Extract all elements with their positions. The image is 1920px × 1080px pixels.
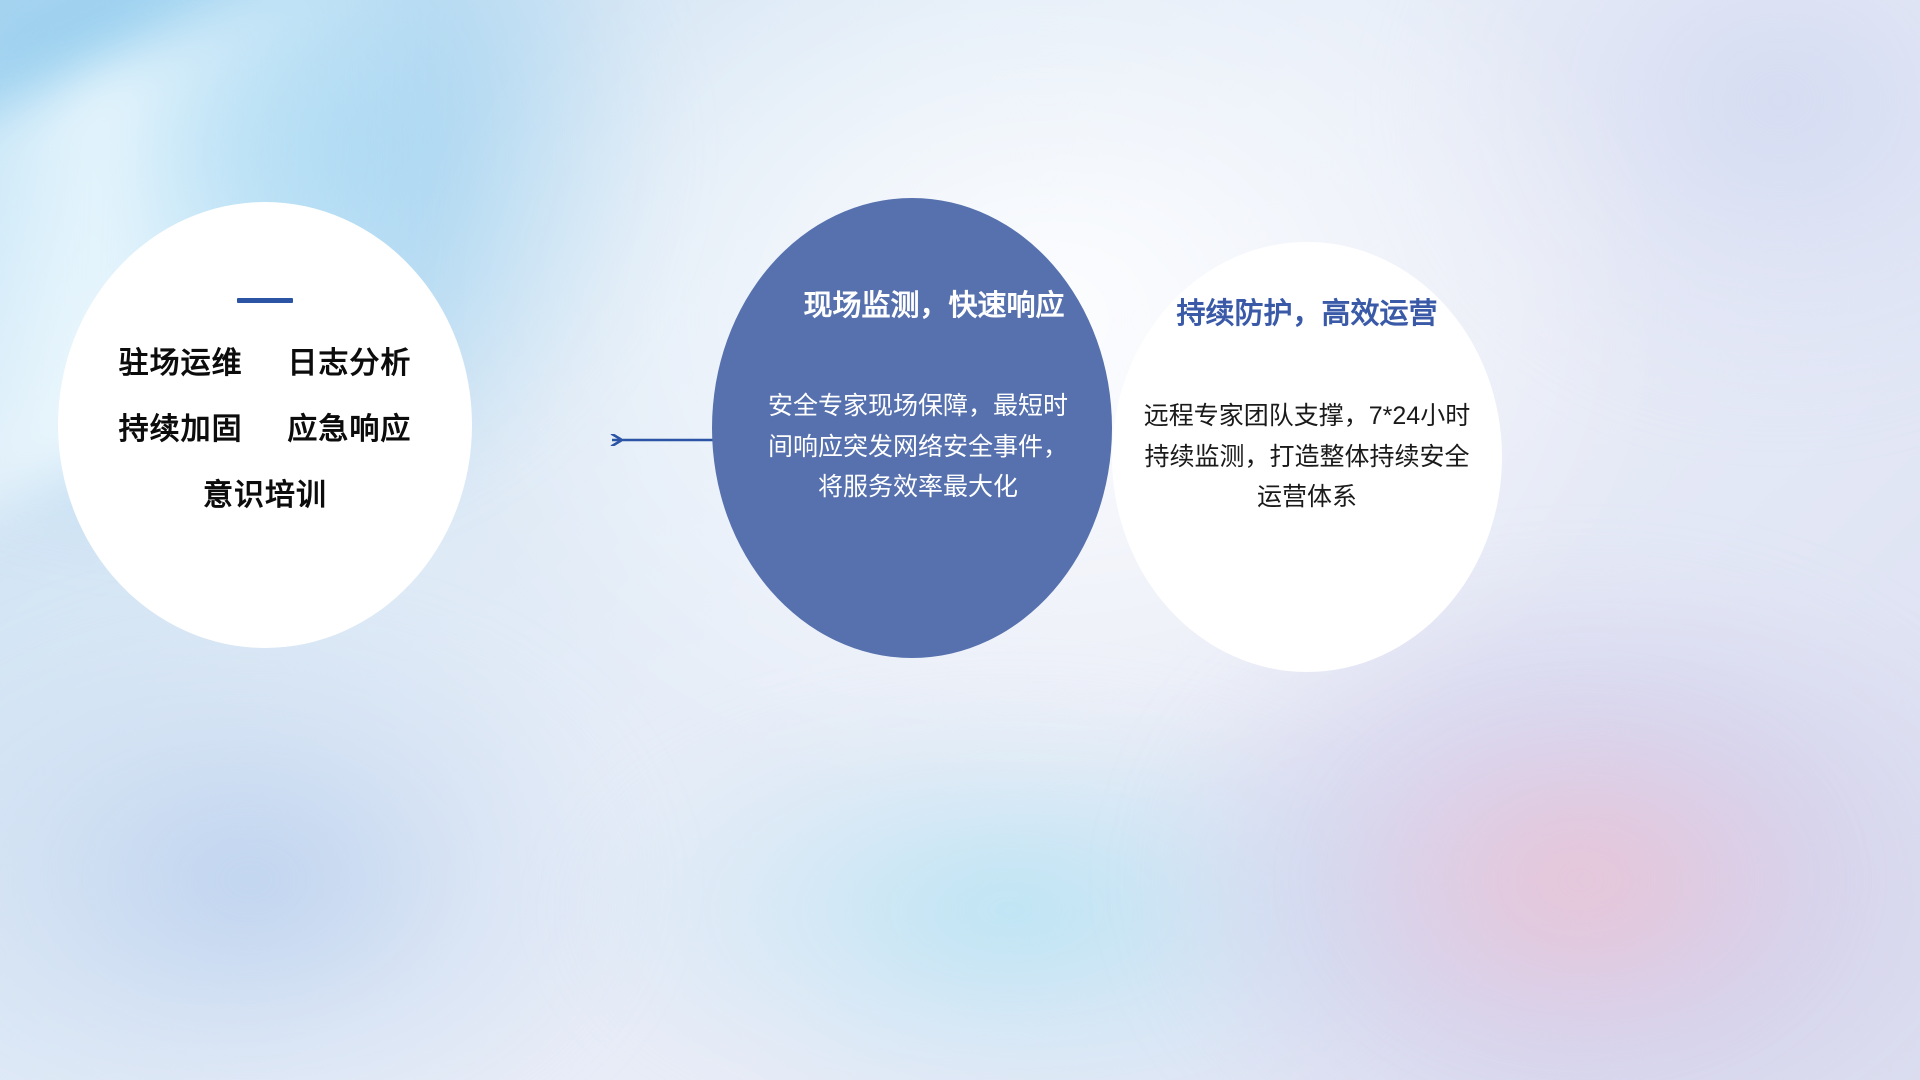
- right-continuous-circle[interactable]: 持续防护，高效运营 远程专家团队支撑，7*24小时持续监测，打造整体持续安全运营…: [1112, 242, 1502, 672]
- keyword-label: 意识培训: [203, 479, 327, 512]
- middle-onsite-circle[interactable]: 现场监测，快速响应 安全专家现场保障，最短时间响应突发网络安全事件，将服务效率最…: [712, 198, 1112, 658]
- keyword-row: 驻场运维 日志分析: [58, 349, 472, 379]
- left-capability-circle[interactable]: 驻场运维 日志分析 持续加固 应急响应 意识培训: [58, 202, 472, 648]
- right-circle-body: 远程专家团队支撑，7*24小时持续监测，打造整体持续安全运营体系: [1120, 396, 1494, 518]
- keyword-label: 应急响应: [287, 413, 411, 446]
- keyword-label: 日志分析: [287, 347, 411, 380]
- keyword-label: 驻场运维: [119, 347, 243, 380]
- right-circle-content: 持续防护，高效运营 远程专家团队支撑，7*24小时持续监测，打造整体持续安全运营…: [1112, 290, 1502, 518]
- middle-circle-content: 现场监测，快速响应 安全专家现场保障，最短时间响应突发网络安全事件，将服务效率最…: [712, 282, 1112, 508]
- left-circle-content: 驻场运维 日志分析 持续加固 应急响应 意识培训: [58, 298, 472, 511]
- blue-divider-dash: [237, 298, 293, 303]
- keyword-row: 持续加固 应急响应: [58, 415, 472, 445]
- keyword-label: 持续加固: [119, 413, 243, 446]
- right-circle-title: 持续防护，高效运营: [1120, 290, 1494, 332]
- keyword-row: 意识培训: [58, 481, 472, 511]
- middle-circle-title: 现场监测，快速响应: [764, 282, 1104, 324]
- middle-circle-body: 安全专家现场保障，最短时间响应突发网络安全事件，将服务效率最大化: [768, 386, 1068, 508]
- slide-canvas: 驻场运维 日志分析 持续加固 应急响应 意识培训 现场监测，快速响应 安全专家现…: [0, 0, 1920, 1080]
